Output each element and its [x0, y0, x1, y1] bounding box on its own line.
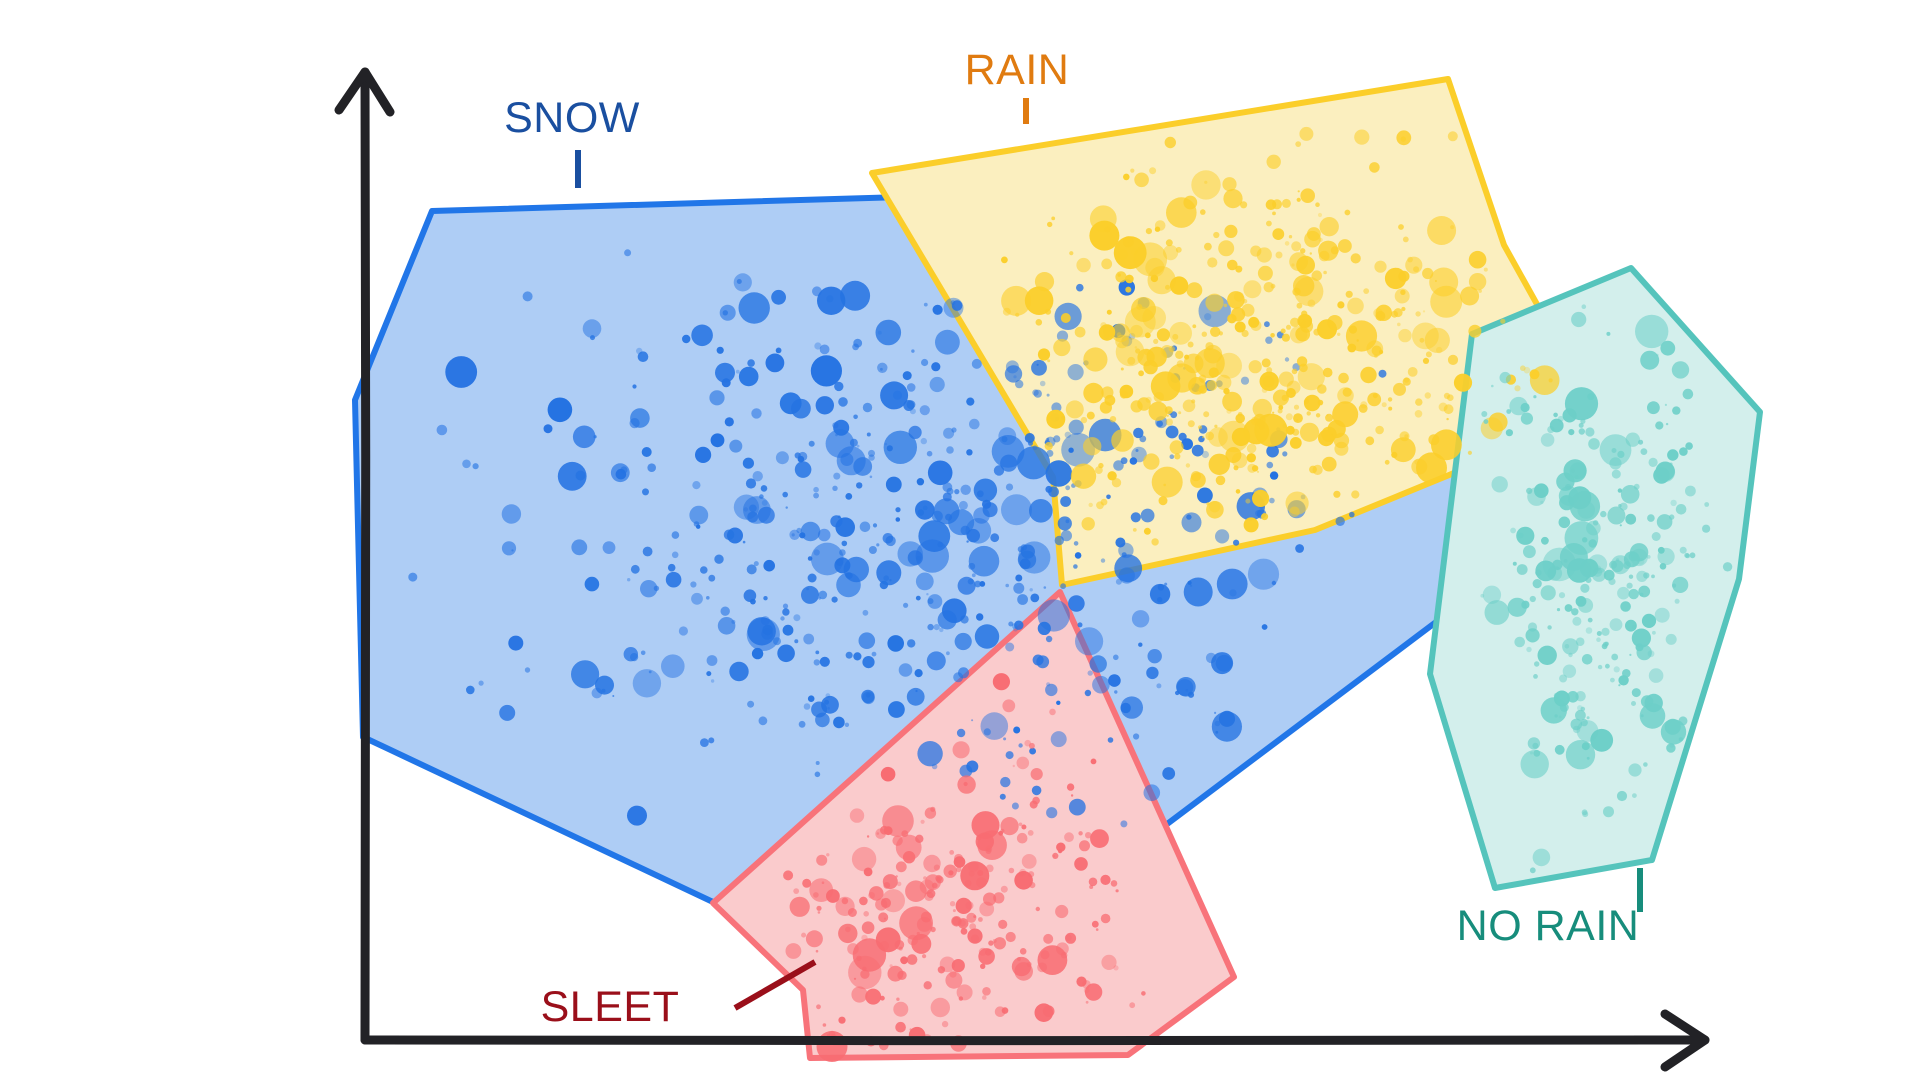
scatter-point: [706, 596, 710, 600]
scatter-point: [957, 729, 965, 737]
scatter-point: [853, 652, 861, 660]
scatter-point: [845, 572, 851, 578]
scatter-point: [502, 541, 516, 555]
scatter-point: [1649, 668, 1664, 683]
scatter-point: [938, 610, 957, 629]
scatter-point: [1163, 245, 1178, 260]
scatter-point: [1169, 322, 1192, 345]
scatter-point: [1533, 849, 1551, 867]
scatter-point: [1083, 383, 1103, 403]
scatter-point: [1272, 228, 1284, 240]
scatter-point: [1207, 380, 1218, 391]
scatter-point: [856, 482, 862, 488]
scatter-point: [899, 947, 903, 951]
scatter-point: [952, 959, 965, 972]
scatter-point: [1043, 1005, 1055, 1017]
scatter-point: [1521, 413, 1533, 425]
scatter-point: [654, 586, 659, 591]
scatter-point: [1690, 552, 1696, 558]
scatter-point: [866, 693, 871, 698]
scatter-point: [1075, 627, 1103, 655]
scatter-point: [886, 477, 902, 493]
scatter-point: [1227, 291, 1245, 309]
scatter-point: [1002, 699, 1015, 712]
scatter-point: [1204, 181, 1207, 184]
scatter-point: [988, 940, 993, 945]
scatter-point: [737, 279, 742, 284]
scatter-point: [1388, 397, 1392, 401]
scatter-point: [1123, 174, 1130, 181]
scatter-point: [1295, 544, 1304, 553]
scatter-point: [1579, 428, 1585, 434]
scatter-point: [731, 620, 735, 624]
scatter-point: [1151, 371, 1181, 401]
scatter-point: [1659, 473, 1662, 476]
scatter-point: [1648, 650, 1655, 657]
scatter-point: [934, 624, 940, 630]
scatter-point: [1146, 228, 1152, 234]
scatter-point: [1219, 331, 1223, 335]
scatter-point: [1559, 486, 1579, 506]
cluster-label-no-rain: NO RAIN: [1457, 902, 1640, 950]
scatter-point: [1614, 666, 1620, 672]
scatter-point: [1163, 484, 1166, 487]
scatter-point: [1121, 696, 1143, 718]
scatter-point: [972, 359, 982, 369]
scatter-point: [1137, 397, 1151, 411]
scatter-point: [1064, 832, 1074, 842]
scatter-point: [896, 861, 907, 872]
scatter-point: [826, 693, 831, 698]
scatter-point: [916, 573, 934, 591]
scatter-point: [1006, 484, 1013, 491]
scatter-point: [931, 362, 940, 371]
scatter-point: [1089, 885, 1093, 889]
scatter-point: [1151, 538, 1158, 545]
scatter-point: [1547, 426, 1554, 433]
scatter-point: [925, 807, 936, 818]
scatter-point: [1224, 304, 1228, 308]
scatter-point: [1391, 452, 1397, 458]
scatter-point: [1088, 670, 1093, 675]
scatter-point: [1115, 335, 1129, 349]
scatter-point: [729, 662, 748, 681]
scatter-point: [1506, 409, 1511, 414]
scatter-point: [818, 597, 821, 600]
scatter-point: [1294, 405, 1299, 410]
scatter-point: [1454, 374, 1472, 392]
scatter-point: [860, 522, 871, 533]
scatter-point: [896, 875, 898, 877]
scatter-point: [1108, 737, 1114, 743]
scatter-point: [1365, 436, 1374, 445]
scatter-point: [890, 964, 893, 967]
scatter-point: [1060, 496, 1071, 507]
scatter-point: [649, 671, 652, 674]
scatter-point: [711, 679, 714, 682]
scatter-point: [986, 865, 994, 873]
scatter-point: [1600, 511, 1606, 517]
scatter-point: [814, 342, 821, 349]
scatter-point: [723, 310, 728, 315]
scatter-point: [1517, 564, 1528, 575]
scatter-point: [848, 956, 881, 989]
scatter-point: [848, 908, 857, 917]
scatter-point: [1286, 413, 1293, 420]
scatter-point: [880, 368, 883, 371]
scatter-point: [1423, 310, 1425, 312]
scatter-point: [1672, 406, 1680, 414]
scatter-point: [647, 463, 656, 472]
scatter-point: [1190, 472, 1206, 488]
scatter-point: [943, 492, 952, 501]
scatter-point: [1108, 674, 1121, 687]
scatter-point: [1326, 414, 1328, 416]
scatter-point: [709, 390, 724, 405]
scatter-point: [1398, 329, 1411, 342]
scatter-point: [1130, 169, 1134, 173]
scatter-point: [1030, 801, 1038, 809]
scatter-point: [1565, 521, 1599, 555]
scatter-point: [739, 292, 770, 323]
scatter-point: [878, 912, 888, 922]
scatter-point: [1242, 330, 1249, 337]
scatter-point: [956, 898, 972, 914]
scatter-point: [736, 370, 740, 374]
scatter-point: [1407, 257, 1413, 263]
scatter-point: [1030, 594, 1039, 603]
scatter-point: [968, 861, 979, 872]
scatter-point: [1375, 426, 1384, 435]
scatter-point: [1247, 444, 1257, 454]
scatter-point: [933, 305, 943, 315]
scatter-point: [1617, 791, 1627, 801]
scatter-point: [1066, 519, 1070, 523]
scatter-point: [1571, 469, 1575, 473]
scatter-point: [1138, 643, 1142, 647]
scatter-point: [1533, 674, 1538, 679]
scatter-point: [969, 923, 976, 930]
scatter-point: [1001, 494, 1032, 525]
scatter-point: [966, 540, 968, 542]
scatter-point: [1166, 239, 1173, 246]
scatter-point: [1017, 594, 1028, 605]
scatter-point: [1089, 503, 1093, 507]
scatter-point: [878, 331, 882, 335]
scatter-point: [1510, 528, 1516, 534]
scatter-point: [1018, 541, 1050, 573]
scatter-point: [826, 295, 833, 302]
scatter-point: [679, 626, 688, 635]
scatter-point: [1541, 697, 1567, 723]
scatter-point: [1111, 429, 1134, 452]
scatter-point: [1582, 654, 1593, 665]
scatter-point: [1354, 130, 1369, 145]
scatter-point: [884, 918, 886, 920]
scatter-point: [1624, 551, 1640, 567]
scatter-point: [1090, 655, 1107, 672]
scatter-point: [1349, 326, 1357, 334]
scatter-point: [1643, 762, 1648, 767]
scatter-point: [816, 906, 821, 911]
scatter-point: [747, 359, 755, 367]
scatter-point: [1262, 358, 1271, 367]
scatter-point: [1658, 548, 1675, 565]
scatter-point: [920, 880, 935, 895]
scatter-point: [1028, 871, 1034, 877]
scatter-point: [1000, 829, 1004, 833]
scatter-point: [1620, 503, 1628, 511]
scatter-point: [668, 564, 676, 572]
scatter-point: [1524, 367, 1531, 374]
scatter-point: [1258, 266, 1273, 281]
scatter-point: [511, 549, 513, 551]
scatter-point: [1426, 351, 1432, 357]
scatter-point: [907, 400, 916, 409]
scatter-point: [897, 971, 906, 980]
scatter-point: [1101, 914, 1111, 924]
scatter-point: [1675, 599, 1680, 604]
scatter-point: [903, 603, 908, 608]
scatter-point: [1118, 543, 1133, 558]
scatter-point: [926, 593, 928, 595]
scatter-point: [955, 633, 972, 650]
scatter-point: [734, 273, 752, 291]
scatter-point: [1078, 622, 1083, 627]
scatter-point: [1337, 301, 1344, 308]
scatter-point: [1397, 323, 1401, 327]
scatter-point: [935, 330, 960, 355]
scatter-point: [1147, 347, 1167, 367]
scatter-point: [1304, 399, 1309, 404]
scatter-point: [1331, 246, 1339, 254]
scatter-point: [1252, 490, 1269, 507]
scatter-point: [1316, 413, 1320, 417]
scatter-point: [845, 927, 851, 933]
scatter-point: [1632, 629, 1651, 648]
scatter-point: [1033, 655, 1044, 666]
scatter-point: [1567, 558, 1592, 583]
scatter-point: [1450, 225, 1454, 229]
scatter-point: [1210, 327, 1220, 337]
scatter-point: [1013, 727, 1020, 734]
scatter-point: [691, 593, 703, 605]
scatter-point: [1085, 690, 1091, 696]
scatter-point: [1415, 398, 1422, 405]
scatter-point: [1323, 368, 1333, 378]
scatter-point: [1632, 793, 1637, 798]
scatter-point: [1092, 676, 1110, 694]
scatter-point: [1292, 429, 1299, 436]
scatter-point: [1266, 445, 1279, 458]
scatter-point: [1113, 655, 1119, 661]
scatter-point: [1292, 369, 1298, 375]
scatter-point: [1357, 339, 1359, 341]
scatter-point: [1297, 198, 1301, 202]
scatter-point: [821, 696, 839, 714]
scatter-point: [1075, 327, 1086, 338]
scatter-point: [1484, 419, 1489, 424]
scatter-point: [1047, 438, 1050, 441]
scatter-point: [1211, 652, 1233, 674]
scatter-point: [803, 634, 814, 645]
scatter-point: [700, 566, 708, 574]
scatter-point: [815, 651, 819, 655]
scatter-point: [1446, 418, 1448, 420]
scatter-point: [1006, 360, 1019, 373]
scatter-point: [1685, 442, 1693, 450]
scatter-point: [627, 806, 647, 826]
scatter-point: [1401, 307, 1405, 311]
scatter-point: [744, 589, 757, 602]
scatter-point: [1334, 433, 1349, 448]
scatter-point: [806, 930, 823, 947]
scatter-point: [922, 954, 926, 958]
scatter-point: [1186, 463, 1190, 467]
scatter-point: [1003, 737, 1006, 740]
scatter-point: [1125, 287, 1131, 293]
scatter-point: [739, 367, 759, 387]
scatter-point: [1096, 928, 1099, 931]
scatter-point: [1513, 562, 1517, 566]
scatter-point: [1006, 751, 1014, 759]
scatter-point: [937, 542, 943, 548]
scatter-point: [815, 772, 821, 778]
scatter-point: [1403, 237, 1409, 243]
scatter-point: [1553, 413, 1558, 418]
scatter-point: [850, 808, 864, 822]
scatter-point: [932, 764, 938, 770]
scatter-point: [1045, 486, 1052, 493]
scatter-point: [1480, 594, 1484, 598]
scatter-point: [1282, 334, 1290, 342]
scatter-point: [980, 964, 985, 969]
scatter-plot-canvas: SNOW RAIN SLEET NO RAIN: [0, 0, 1920, 1080]
scatter-point: [899, 906, 933, 940]
scatter-point: [1001, 257, 1008, 264]
scatter-point: [958, 667, 969, 678]
scatter-point: [1320, 217, 1339, 236]
scatter-point: [1572, 617, 1581, 626]
scatter-point: [1317, 319, 1337, 339]
scatter-point: [842, 541, 848, 547]
x-axis-line: [365, 1040, 1705, 1041]
scatter-point: [1469, 273, 1486, 290]
scatter-point: [721, 607, 730, 616]
scatter-point: [1091, 759, 1097, 765]
scatter-point: [1076, 258, 1090, 272]
scatter-point: [1388, 407, 1392, 411]
scatter-point: [1037, 963, 1047, 973]
scatter-point: [1611, 654, 1618, 661]
scatter-point: [1055, 536, 1064, 545]
scatter-point: [880, 996, 885, 1001]
scatter-point: [1628, 763, 1641, 776]
scatter-point: [1046, 682, 1050, 686]
scatter-point: [717, 347, 724, 354]
scatter-point: [1672, 584, 1676, 588]
scatter-point: [1046, 807, 1057, 818]
scatter-point: [1586, 627, 1593, 634]
scatter-point: [907, 954, 918, 965]
scatter-point: [1685, 486, 1696, 497]
scatter-point: [1079, 840, 1090, 851]
scatter-point: [1148, 266, 1176, 294]
scatter-point: [1056, 843, 1065, 852]
scatter-point: [763, 596, 767, 600]
scatter-point: [1575, 710, 1586, 721]
scatter-point: [1293, 413, 1303, 423]
scatter-point: [1670, 500, 1676, 506]
scatter-point: [946, 446, 954, 454]
scatter-point: [1533, 579, 1542, 588]
scatter-point: [1164, 583, 1167, 586]
scatter-point: [1226, 409, 1231, 414]
scatter-point: [1162, 767, 1175, 780]
scatter-point: [1061, 313, 1071, 323]
scatter-point: [525, 667, 530, 672]
scatter-point: [725, 417, 734, 426]
scatter-point: [1323, 271, 1327, 275]
scatter-point: [974, 479, 997, 502]
scatter-point: [747, 512, 758, 523]
scatter-point: [959, 920, 966, 927]
scatter-point: [1000, 794, 1006, 800]
scatter-point: [1120, 820, 1127, 827]
scatter-point: [1017, 833, 1028, 844]
scatter-point: [1533, 395, 1536, 398]
scatter-point: [1000, 455, 1017, 472]
scatter-point: [953, 741, 970, 758]
scatter-point: [1704, 502, 1709, 507]
scatter-point: [975, 624, 999, 648]
scatter-point: [1100, 875, 1110, 885]
scatter-point: [1190, 585, 1192, 587]
scatter-point: [1585, 427, 1594, 436]
scatter-point: [1588, 618, 1593, 623]
scatter-point: [1541, 537, 1549, 545]
scatter-point: [1266, 367, 1272, 373]
scatter-point: [1045, 442, 1053, 450]
scatter-point: [1559, 675, 1567, 683]
scatter-point: [1559, 592, 1565, 598]
scatter-point: [479, 681, 484, 686]
scatter-point: [949, 971, 956, 978]
scatter-point: [1019, 823, 1023, 827]
scatter-point: [924, 303, 928, 307]
scatter-point: [1169, 346, 1175, 352]
scatter-point: [1319, 238, 1323, 242]
scatter-point: [820, 657, 830, 667]
scatter-point: [948, 870, 953, 875]
scatter-point: [1559, 517, 1571, 529]
scatter-point: [1021, 825, 1026, 830]
scatter-point: [761, 616, 770, 625]
scatter-point: [1018, 743, 1022, 747]
scatter-point: [1087, 412, 1095, 420]
scatter-point: [1081, 417, 1087, 423]
scatter-point: [1203, 411, 1209, 417]
scatter-point: [1205, 342, 1213, 350]
scatter-point: [960, 615, 968, 623]
scatter-point: [624, 249, 631, 256]
scatter-point: [1116, 889, 1119, 892]
scatter-point: [786, 506, 788, 508]
scatter-point: [1020, 948, 1027, 955]
scatter-point: [881, 767, 896, 782]
scatter-point: [875, 898, 887, 910]
scatter-point: [1289, 507, 1300, 518]
